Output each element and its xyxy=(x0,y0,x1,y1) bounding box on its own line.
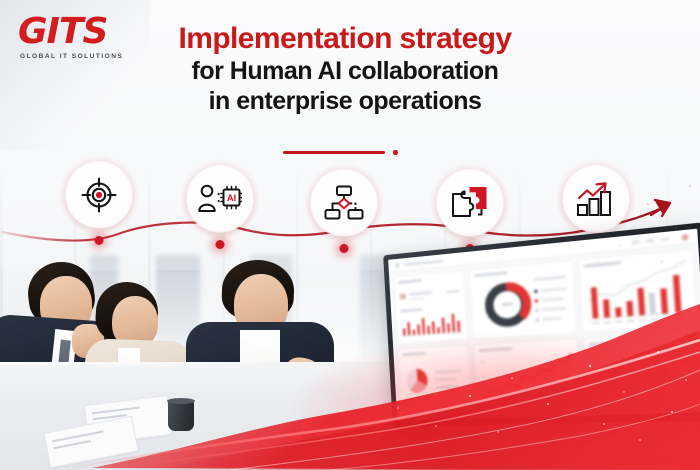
ambient-particles xyxy=(0,0,700,470)
banner-canvas: GITS GLOBAL IT SOLUTIONS Implementation … xyxy=(0,0,700,470)
